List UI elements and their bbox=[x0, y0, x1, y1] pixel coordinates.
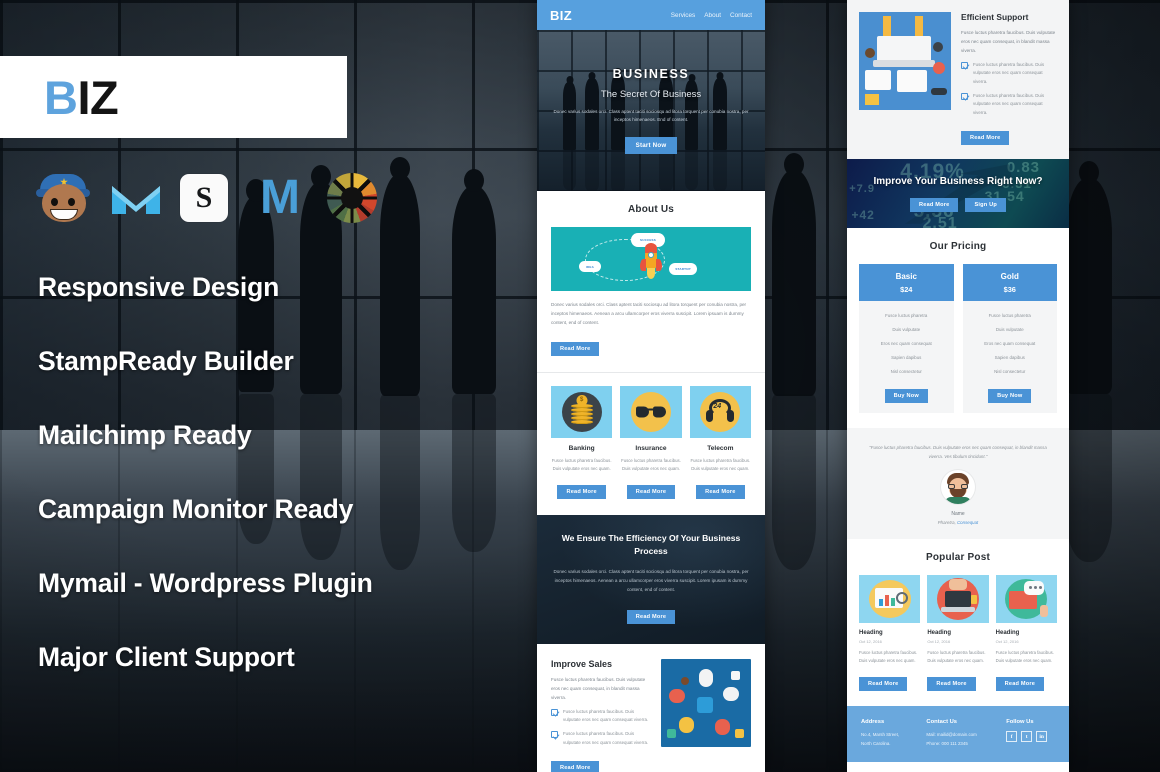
about-section: About Us SUCCESS IDEA STARTUP Donec vari… bbox=[537, 191, 765, 372]
gmail-icon bbox=[108, 170, 164, 226]
logo-letter-b: B bbox=[44, 71, 77, 124]
pricing-card-header: Basic $24 bbox=[859, 264, 954, 301]
plan-feature: Nisl consectetur bbox=[969, 364, 1052, 378]
cta-sign-up-button[interactable]: Sign Up bbox=[965, 198, 1006, 212]
service-card-insurance: Insurance Fusce luctus pharetra faucibus… bbox=[620, 386, 681, 499]
nav-link-contact[interactable]: Contact bbox=[730, 12, 752, 19]
post-body: Fusce luctus pharetra faucibus. Duis vul… bbox=[927, 649, 988, 665]
process-section: We Ensure The Efficiency Of Your Busines… bbox=[537, 515, 765, 644]
mymail-icon: M bbox=[252, 170, 308, 226]
popular-post-section: Popular Post Heading Oct 12, 2016 Fusce … bbox=[847, 539, 1069, 706]
plan-feature: Eros nec quam consequat bbox=[865, 337, 948, 351]
laptop-desk-icon bbox=[927, 575, 988, 623]
checklist-item: Fusce luctus pharetra faucibus. Duis vul… bbox=[961, 92, 1057, 117]
post-read-more-button[interactable]: Read More bbox=[996, 677, 1044, 691]
compatible-platform-icons: S M bbox=[36, 170, 380, 226]
pricing-title: Our Pricing bbox=[859, 241, 1057, 252]
checklist-item: Fusce luctus pharetra faucibus. Duis vul… bbox=[961, 61, 1057, 86]
navbar-links: Services About Contact bbox=[671, 12, 752, 19]
post-heading: Heading bbox=[927, 630, 988, 636]
footer-address-column: Address No.4, Marsh Street, North Caroli… bbox=[861, 719, 918, 748]
teamwork-illustration bbox=[661, 659, 751, 747]
footer-contact-column: Contact Us Mail: mailid@domain.com Phone… bbox=[926, 719, 998, 748]
post-card: Heading Oct 12, 2016 Fusce luctus pharet… bbox=[996, 575, 1057, 691]
feature-item: Mailchimp Ready bbox=[38, 420, 508, 451]
improve-sales-section: Improve Sales Fusce luctus pharetra fauc… bbox=[537, 644, 765, 772]
pricing-card-header: Gold $36 bbox=[963, 264, 1058, 301]
about-body: Donec varius sodales orci. Class aptent … bbox=[551, 301, 751, 328]
post-body: Fusce luctus pharetra faucibus. Duis vul… bbox=[996, 649, 1057, 665]
linkedin-icon[interactable]: in bbox=[1036, 731, 1047, 742]
pricing-section: Our Pricing Basic $24 Fusce luctus phare… bbox=[847, 228, 1069, 428]
support-checklist: Fusce luctus pharetra faucibus. Duis vul… bbox=[961, 61, 1057, 117]
post-date: Oct 12, 2016 bbox=[859, 639, 920, 644]
footer-address-title: Address bbox=[861, 719, 918, 725]
headset-24-icon: 24 bbox=[690, 386, 751, 438]
service-name: Banking bbox=[551, 445, 612, 452]
coins-icon: $ bbox=[551, 386, 612, 438]
plan-name: Gold bbox=[963, 272, 1058, 281]
business-cta-banner: 4.19% 0.83 5.31 31.54 5.36 2.51 +42 +7.9… bbox=[847, 159, 1069, 228]
services-section: $ Banking Fusce luctus pharetra faucibus… bbox=[537, 373, 765, 515]
efficient-support-section: Efficient Support Fusce luctus pharetra … bbox=[847, 0, 1069, 159]
hero-subtitle: The Secret Of Business bbox=[551, 89, 751, 100]
post-card: Heading Oct 12, 2016 Fusce luctus pharet… bbox=[927, 575, 988, 691]
check-icon bbox=[551, 731, 558, 738]
cta-read-more-button[interactable]: Read More bbox=[910, 198, 958, 212]
about-read-more-button[interactable]: Read More bbox=[551, 342, 599, 356]
testimonial-name: Name bbox=[865, 511, 1051, 517]
feature-item: Mymail - Wordpress Plugin bbox=[38, 568, 508, 599]
nav-link-about[interactable]: About bbox=[704, 12, 721, 19]
logo-letters-iz: IZ bbox=[77, 71, 118, 124]
support-title: Efficient Support bbox=[961, 12, 1057, 22]
plan-feature: Duis vulputate bbox=[969, 323, 1052, 337]
footer-follow-column: Follow Us f t in bbox=[1006, 719, 1055, 748]
mailchimp-icon bbox=[36, 170, 92, 226]
improve-sales-title: Improve Sales bbox=[551, 659, 651, 669]
service-body: Fusce luctus pharetra faucibus. Duis vul… bbox=[690, 457, 751, 473]
post-heading: Heading bbox=[859, 630, 920, 636]
feature-item: Major Client Support bbox=[38, 642, 508, 673]
facebook-icon[interactable]: f bbox=[1006, 731, 1017, 742]
social-links: f t in bbox=[1006, 731, 1055, 742]
post-date: Oct 12, 2016 bbox=[927, 639, 988, 644]
footer-address-lines: No.4, Marsh Street, North Carolina. bbox=[861, 731, 918, 748]
rocket-illustration: SUCCESS IDEA STARTUP bbox=[551, 227, 751, 291]
service-body: Fusce luctus pharetra faucibus. Duis vul… bbox=[620, 457, 681, 473]
feature-item: Responsive Design bbox=[38, 272, 508, 303]
about-title: About Us bbox=[551, 204, 751, 215]
feature-item: Campaign Monitor Ready bbox=[38, 494, 508, 525]
improve-sales-read-more-button[interactable]: Read More bbox=[551, 761, 599, 772]
support-body: Fusce luctus pharetra faucibus. Duis vul… bbox=[961, 29, 1057, 56]
service-read-more-button[interactable]: Read More bbox=[627, 485, 675, 499]
services-grid: $ Banking Fusce luctus pharetra faucibus… bbox=[551, 386, 751, 499]
process-title: We Ensure The Efficiency Of Your Busines… bbox=[553, 532, 749, 558]
footer-contact-title: Contact Us bbox=[926, 719, 998, 725]
plan-feature-list: Fusce luctus pharetra Duis vulputate Ero… bbox=[859, 301, 954, 384]
navbar-brand: BIZ bbox=[550, 8, 572, 23]
avatar bbox=[941, 470, 975, 504]
plan-buy-now-button[interactable]: Buy Now bbox=[988, 389, 1031, 403]
pricing-plans: Basic $24 Fusce luctus pharetra Duis vul… bbox=[859, 264, 1057, 413]
process-read-more-button[interactable]: Read More bbox=[627, 610, 675, 624]
post-body: Fusce luctus pharetra faucibus. Duis vul… bbox=[859, 649, 920, 665]
service-body: Fusce luctus pharetra faucibus. Duis vul… bbox=[551, 457, 612, 473]
improve-sales-checklist: Fusce luctus pharetra faucibus. Duis vul… bbox=[551, 708, 651, 747]
service-read-more-button[interactable]: Read More bbox=[557, 485, 605, 499]
hero-title: BUSINESS bbox=[551, 67, 751, 81]
template-navbar: BIZ Services About Contact bbox=[537, 0, 765, 30]
service-read-more-button[interactable]: Read More bbox=[696, 485, 744, 499]
plan-price: $36 bbox=[963, 285, 1058, 294]
check-icon bbox=[551, 709, 558, 716]
checklist-text: Fusce luctus pharetra faucibus. Duis vul… bbox=[973, 61, 1057, 86]
post-date: Oct 12, 2016 bbox=[996, 639, 1057, 644]
plan-feature: Nisl consectetur bbox=[865, 364, 948, 378]
popular-post-title: Popular Post bbox=[859, 552, 1057, 563]
growth-arrow-icon bbox=[905, 163, 1038, 224]
post-read-more-button[interactable]: Read More bbox=[927, 677, 975, 691]
pricing-card-gold: Gold $36 Fusce luctus pharetra Duis vulp… bbox=[963, 264, 1058, 413]
testimonial-quote: "Fusce luctus pharetra faucibus. Duis vu… bbox=[865, 444, 1051, 461]
checklist-text: Fusce luctus pharetra faucibus. Duis vul… bbox=[973, 92, 1057, 117]
email-template-center-column: BIZ Services About Contact BUSINESS The … bbox=[537, 0, 765, 772]
plan-price: $24 bbox=[859, 285, 954, 294]
hero-body: Donec varius sodales orci. Class aptent … bbox=[551, 108, 751, 125]
post-card: Heading Oct 12, 2016 Fusce luctus pharet… bbox=[859, 575, 920, 691]
sunglasses-icon bbox=[620, 386, 681, 438]
testimonial-section: "Fusce luctus pharetra faucibus. Duis vu… bbox=[847, 428, 1069, 539]
service-name: Telecom bbox=[690, 445, 751, 452]
stampready-icon: S bbox=[180, 170, 236, 226]
hero-start-now-button[interactable]: Start Now bbox=[625, 137, 678, 154]
post-grid: Heading Oct 12, 2016 Fusce luctus pharet… bbox=[859, 575, 1057, 691]
improve-sales-body: Fusce luctus pharetra faucibus. Duis vul… bbox=[551, 676, 651, 703]
process-body: Donec varius sodales orci. Class aptent … bbox=[553, 568, 749, 595]
chat-monitor-icon bbox=[996, 575, 1057, 623]
role-prefix: Pharetra, bbox=[938, 520, 957, 525]
campaign-monitor-icon bbox=[324, 170, 380, 226]
plan-buy-now-button[interactable]: Buy Now bbox=[885, 389, 928, 403]
check-icon bbox=[961, 93, 968, 100]
role-link[interactable]: Consequat bbox=[957, 520, 978, 525]
email-template-right-column: Efficient Support Fusce luctus pharetra … bbox=[847, 0, 1069, 772]
checklist-item: Fusce luctus pharetra faucibus. Duis vul… bbox=[551, 708, 651, 725]
plan-feature: Eros nec quam consequat bbox=[969, 337, 1052, 351]
brand-logo: BIZ bbox=[44, 74, 118, 121]
chart-report-icon bbox=[859, 575, 920, 623]
plan-feature: Duis vulputate bbox=[865, 323, 948, 337]
template-footer: Address No.4, Marsh Street, North Caroli… bbox=[847, 706, 1069, 762]
plan-feature: Sapien dapibus bbox=[865, 350, 948, 364]
feature-list: Responsive Design StampReady Builder Mai… bbox=[38, 272, 508, 716]
plan-feature: Fusce luctus pharetra bbox=[969, 309, 1052, 323]
desk-workspace-illustration bbox=[859, 12, 951, 110]
checklist-text: Fusce luctus pharetra faucibus. Duis vul… bbox=[563, 708, 651, 725]
post-heading: Heading bbox=[996, 630, 1057, 636]
plan-feature: Sapien dapibus bbox=[969, 350, 1052, 364]
check-icon bbox=[961, 62, 968, 69]
pricing-card-basic: Basic $24 Fusce luctus pharetra Duis vul… bbox=[859, 264, 954, 413]
nav-link-services[interactable]: Services bbox=[671, 12, 696, 19]
twitter-icon[interactable]: t bbox=[1021, 731, 1032, 742]
plan-feature: Fusce luctus pharetra bbox=[865, 309, 948, 323]
plan-name: Basic bbox=[859, 272, 954, 281]
brand-logo-plate: BIZ bbox=[0, 56, 347, 138]
footer-follow-title: Follow Us bbox=[1006, 719, 1055, 725]
testimonial-role: Pharetra, Consequat bbox=[865, 520, 1051, 525]
feature-item: StampReady Builder bbox=[38, 346, 508, 377]
service-name: Insurance bbox=[620, 445, 681, 452]
support-read-more-button[interactable]: Read More bbox=[961, 131, 1009, 145]
plan-feature-list: Fusce luctus pharetra Duis vulputate Ero… bbox=[963, 301, 1058, 384]
post-read-more-button[interactable]: Read More bbox=[859, 677, 907, 691]
service-card-telecom: 24 Telecom Fusce luctus pharetra faucibu… bbox=[690, 386, 751, 499]
checklist-text: Fusce luctus pharetra faucibus. Duis vul… bbox=[563, 730, 651, 747]
service-card-banking: $ Banking Fusce luctus pharetra faucibus… bbox=[551, 386, 612, 499]
footer-contact-lines: Mail: mailid@domain.com Phone: 000 111 2… bbox=[926, 731, 998, 748]
checklist-item: Fusce luctus pharetra faucibus. Duis vul… bbox=[551, 730, 651, 747]
cta-title: Improve Your Business Right Now? bbox=[859, 176, 1057, 187]
hero-banner: BUSINESS The Secret Of Business Donec va… bbox=[537, 30, 765, 191]
